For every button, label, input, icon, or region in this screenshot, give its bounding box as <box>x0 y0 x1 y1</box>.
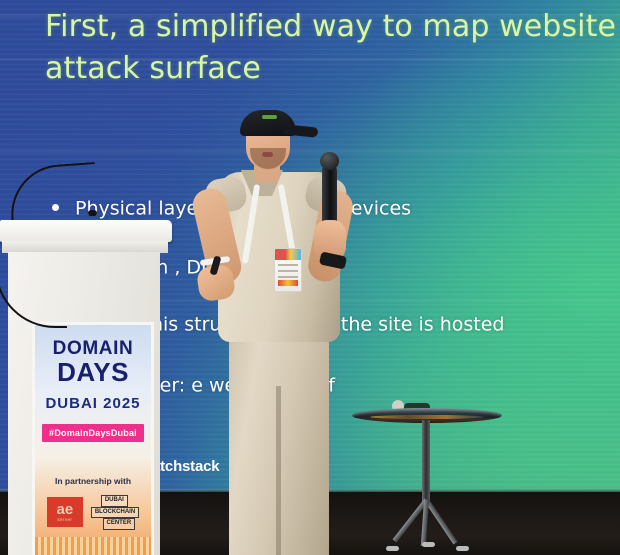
dbc-line-1: DUBAI <box>101 495 128 507</box>
dbc-line-3: CENTER <box>103 518 136 530</box>
table-leg <box>424 499 457 545</box>
podium-event-sign: DOMAIN DAYS DUBAI 2025 #DomainDaysDubai … <box>32 322 154 555</box>
dubai-blockchain-center-logo: DUBAI BLOCKCHAIN CENTER <box>91 495 139 530</box>
slide-title: First, a simplified way to map website a… <box>45 6 620 90</box>
speaker-trousers <box>229 330 329 555</box>
speaker-mouth <box>262 152 273 157</box>
gooseneck-microphone-head <box>88 210 97 216</box>
badge-line <box>278 276 298 278</box>
sign-hashtag: #DomainDaysDubai <box>42 424 144 442</box>
sign-partner-logos: ae server DUBAI BLOCKCHAIN CENTER <box>35 495 151 530</box>
microphone-head <box>320 152 339 170</box>
sign-stripe-pattern <box>35 537 151 555</box>
speaker-person <box>196 108 371 555</box>
sign-line-location-year: DUBAI 2025 <box>35 395 151 412</box>
table-foot <box>386 546 399 551</box>
table-foot <box>422 542 435 547</box>
sign-line-days: DAYS <box>35 359 151 386</box>
cocktail-table <box>352 408 502 548</box>
ae-logo-subtext: server <box>57 518 72 523</box>
conference-stage-photo: First, a simplified way to map website a… <box>0 0 620 555</box>
sign-line-domain: DOMAIN <box>35 339 151 359</box>
table-foot <box>456 546 469 551</box>
badge-vip-strip <box>278 280 298 286</box>
ae-server-logo: ae server <box>47 497 83 527</box>
cap-logo <box>262 115 277 119</box>
table-pole <box>422 420 430 506</box>
badge-line <box>278 270 298 272</box>
sign-partnership-label: In partnership with <box>35 476 151 486</box>
badge-header <box>275 249 301 260</box>
ae-logo-text: ae <box>56 502 73 517</box>
conference-badge <box>274 248 302 292</box>
dbc-line-2: BLOCKCHAIN <box>91 507 139 519</box>
badge-line <box>278 264 298 266</box>
